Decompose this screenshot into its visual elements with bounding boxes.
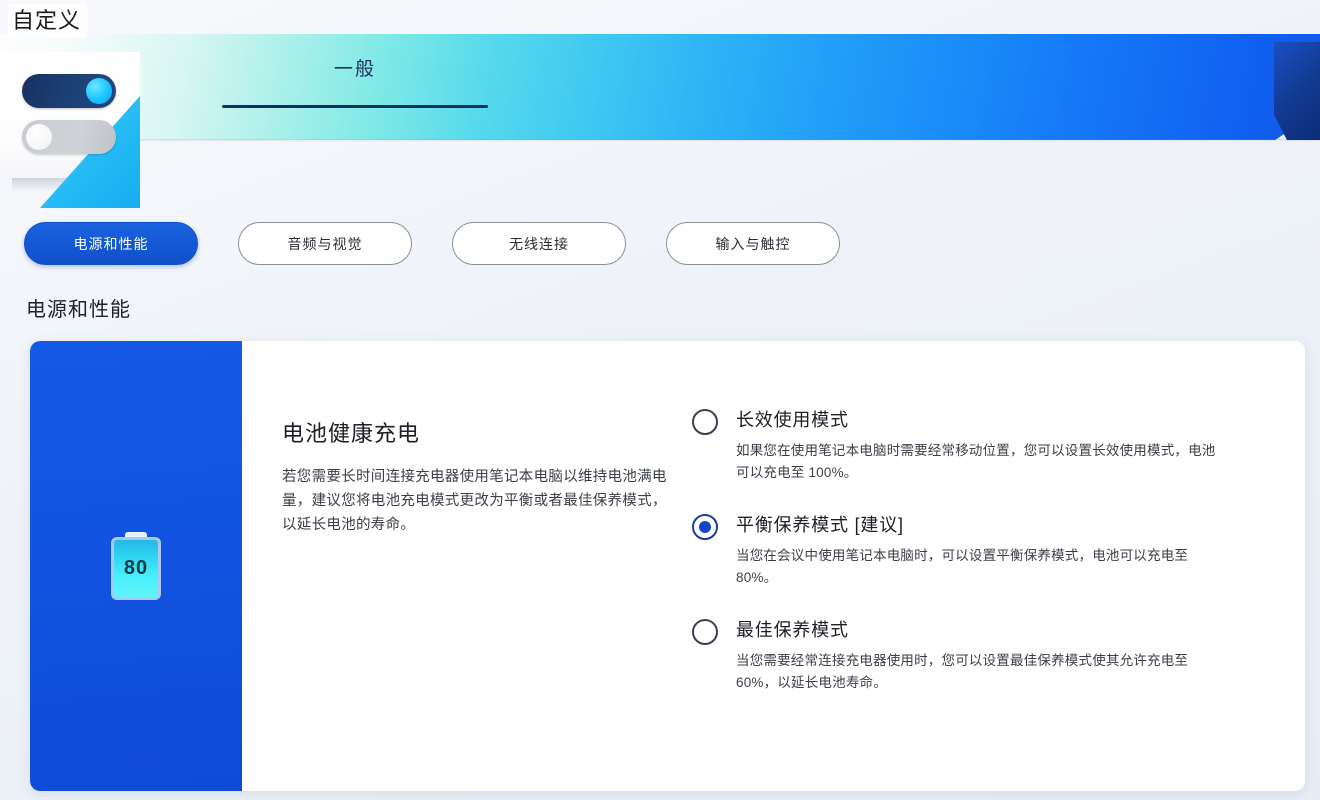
description-column: 电池健康充电 若您需要长时间连接充电器使用笔记本电脑以维持电池满电量，建议您将电… <box>242 341 692 791</box>
description-text: 若您需要长时间连接充电器使用笔记本电脑以维持电池满电量，建议您将电池充电模式更改… <box>282 465 667 537</box>
pill-power-performance[interactable]: 电源和性能 <box>24 222 198 265</box>
option-desc-long-life: 如果您在使用笔记本电脑时需要经常移动位置，您可以设置长效使用模式，电池可以充电至… <box>736 440 1216 484</box>
option-text-long-life: 长效使用模式 如果您在使用笔记本电脑时需要经常移动位置，您可以设置长效使用模式，… <box>736 407 1216 484</box>
description-title: 电池健康充电 <box>282 419 692 449</box>
radio-long-life[interactable] <box>692 409 718 435</box>
radio-balanced[interactable] <box>692 514 718 540</box>
option-text-maximum-lifespan: 最佳保养模式 当您需要经常连接充电器使用时，您可以设置最佳保养模式使其允许充电至… <box>736 617 1216 694</box>
app-logo <box>0 52 140 180</box>
header-corner-fold-icon <box>1274 42 1320 140</box>
battery-care-card: 80 电池健康充电 若您需要长时间连接充电器使用笔记本电脑以维持电池满电量，建议… <box>30 341 1305 791</box>
option-desc-balanced: 当您在会议中使用笔记本电脑时，可以设置平衡保养模式，电池可以充电至 80%。 <box>736 545 1216 589</box>
category-pill-bar: 电源和性能 音频与视觉 无线连接 输入与触控 <box>24 222 840 265</box>
option-maximum-lifespan[interactable]: 最佳保养模式 当您需要经常连接充电器使用时，您可以设置最佳保养模式使其允许充电至… <box>692 617 1271 694</box>
toggle-on-icon <box>22 74 116 108</box>
header-banner <box>0 34 1320 140</box>
header-divider <box>0 139 1320 142</box>
battery-icon: 80 <box>111 532 161 600</box>
option-text-balanced: 平衡保养模式 [建议] 当您在会议中使用笔记本电脑时，可以设置平衡保养模式，电池… <box>736 512 1216 589</box>
section-heading: 电源和性能 <box>26 296 131 324</box>
pill-audio-visual[interactable]: 音频与视觉 <box>238 222 412 265</box>
charging-mode-options: 长效使用模式 如果您在使用笔记本电脑时需要经常移动位置，您可以设置长效使用模式，… <box>692 341 1305 791</box>
card-visual-panel: 80 <box>30 341 242 791</box>
top-tab-bar: 一般 <box>222 55 488 108</box>
option-desc-maximum-lifespan: 当您需要经常连接充电器使用时，您可以设置最佳保养模式使其允许充电至 60%，以延… <box>736 650 1216 694</box>
option-balanced[interactable]: 平衡保养模式 [建议] 当您在会议中使用笔记本电脑时，可以设置平衡保养模式，电池… <box>692 512 1271 589</box>
pill-input-touch[interactable]: 输入与触控 <box>666 222 840 265</box>
battery-body-icon: 80 <box>111 537 161 600</box>
window-title: 自定义 <box>8 4 87 38</box>
option-label-maximum-lifespan: 最佳保养模式 <box>736 617 1216 643</box>
card-body: 电池健康充电 若您需要长时间连接充电器使用笔记本电脑以维持电池满电量，建议您将电… <box>242 341 1305 791</box>
battery-percent-value: 80 <box>124 557 148 580</box>
radio-maximum-lifespan[interactable] <box>692 619 718 645</box>
option-label-long-life: 长效使用模式 <box>736 407 1216 433</box>
toggle-off-icon <box>22 120 116 154</box>
tab-general[interactable]: 一般 <box>222 55 488 105</box>
app-window: 自定义 一般 电源和性能 音频与视觉 无线连接 输入与触控 电源和性能 80 <box>0 0 1320 800</box>
option-label-balanced: 平衡保养模式 [建议] <box>736 512 1216 538</box>
tab-active-indicator <box>222 105 488 108</box>
pill-wireless[interactable]: 无线连接 <box>452 222 626 265</box>
option-long-life[interactable]: 长效使用模式 如果您在使用笔记本电脑时需要经常移动位置，您可以设置长效使用模式，… <box>692 407 1271 484</box>
